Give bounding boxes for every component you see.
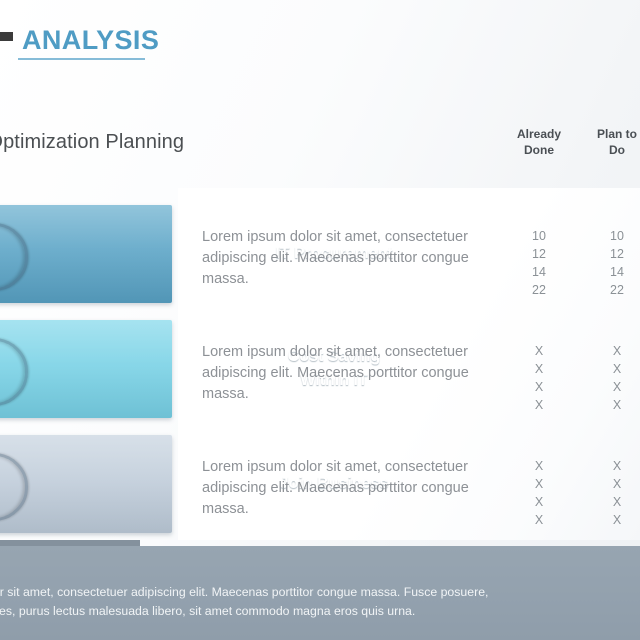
row-values-plan-to-do: X X X X xyxy=(578,342,640,414)
value-cell: X xyxy=(578,342,640,360)
value-cell: X xyxy=(578,493,640,511)
title-underline xyxy=(18,58,145,60)
table-row[interactable]: IT Procurement Lorem ipsum dolor sit ame… xyxy=(0,205,640,303)
subtitle: st Optimization Planning xyxy=(0,131,184,154)
value-cell: X xyxy=(500,511,578,529)
value-cell: 22 xyxy=(500,281,578,299)
column-header-already-done-line2: Done xyxy=(500,142,578,158)
row-values-already-done: X X X X xyxy=(500,342,578,414)
value-cell: X xyxy=(578,457,640,475)
value-cell: 14 xyxy=(578,263,640,281)
value-cell: X xyxy=(578,378,640,396)
row-values-already-done: 10 12 14 22 xyxy=(500,227,578,299)
title-cutoff-fragment xyxy=(0,32,13,41)
column-header-plan-to-do: Plan to Do xyxy=(578,126,640,158)
column-header-plan-to-do-line1: Plan to xyxy=(578,126,640,142)
row-body-text: Lorem ipsum dolor sit amet, consectetuer… xyxy=(202,227,498,290)
row-values-already-done: X X X X xyxy=(500,457,578,529)
value-cell: 10 xyxy=(578,227,640,245)
column-header-already-done: Already Done xyxy=(500,126,578,158)
value-cell: 10 xyxy=(500,227,578,245)
footer-body: um dolor sit amet, consectetuer adipisci… xyxy=(0,583,640,621)
table-row[interactable]: Cost Saving Within IT Lorem ipsum dolor … xyxy=(0,320,640,418)
value-cell: X xyxy=(500,493,578,511)
value-cell: X xyxy=(578,511,640,529)
row-values-plan-to-do: X X X X xyxy=(578,457,640,529)
value-cell: X xyxy=(500,396,578,414)
value-cell: X xyxy=(500,378,578,396)
column-header-already-done-line1: Already xyxy=(500,126,578,142)
footer-body-line2: ar ultricies, purus lectus malesuada lib… xyxy=(0,602,640,621)
value-cell: X xyxy=(578,475,640,493)
column-header-plan-to-do-line2: Do xyxy=(578,142,640,158)
footer-body-line1: um dolor sit amet, consectetuer adipisci… xyxy=(0,583,640,602)
value-cell: 22 xyxy=(578,281,640,299)
value-cell: 12 xyxy=(578,245,640,263)
row-values-plan-to-do: 10 12 14 22 xyxy=(578,227,640,299)
value-cell: X xyxy=(578,396,640,414)
page-title: ANALYSIS xyxy=(22,22,159,58)
row-body-text: Lorem ipsum dolor sit amet, consectetuer… xyxy=(202,342,498,405)
slide-title-band: ANALYSIS xyxy=(0,22,640,70)
value-cell: X xyxy=(500,475,578,493)
value-cell: 12 xyxy=(500,245,578,263)
slide-canvas: ANALYSIS st Optimization Planning Alread… xyxy=(0,0,640,640)
footer-bar: ts um dolor sit amet, consectetuer adipi… xyxy=(0,546,640,640)
value-cell: 14 xyxy=(500,263,578,281)
value-cell: X xyxy=(578,360,640,378)
table-row[interactable]: Join Business Lorem ipsum dolor sit amet… xyxy=(0,435,640,533)
value-cell: X xyxy=(500,360,578,378)
value-cell: X xyxy=(500,457,578,475)
value-cell: X xyxy=(500,342,578,360)
row-body-text: Lorem ipsum dolor sit amet, consectetuer… xyxy=(202,457,498,520)
